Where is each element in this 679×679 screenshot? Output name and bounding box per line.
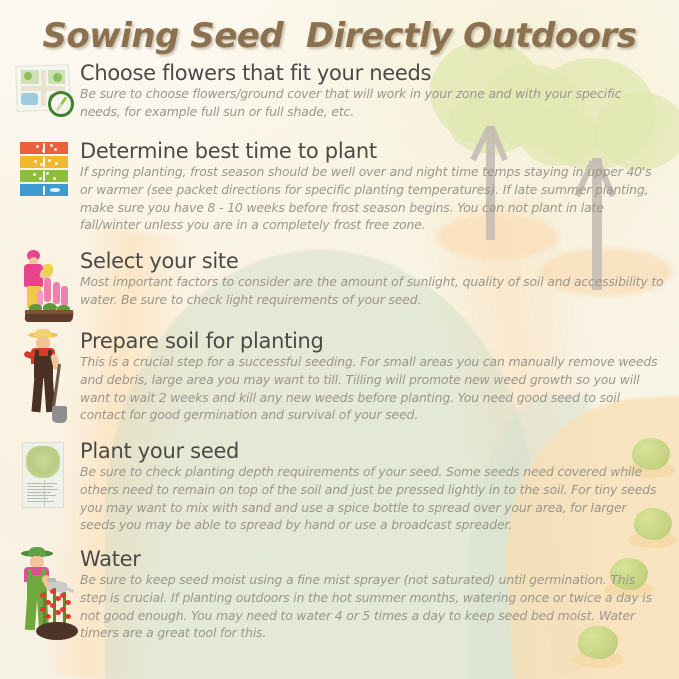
step-icon-slot [8, 330, 80, 430]
step-icon-slot [8, 548, 80, 644]
page-title: Sowing Seed Directly Outdoors [0, 16, 679, 56]
step-text: If spring planting, frost season should … [80, 163, 665, 234]
step-item-select-site: Select your site Most important factors … [0, 250, 679, 330]
gardener-with-flower-planter-icon [13, 250, 75, 328]
step-icon-slot [8, 62, 80, 118]
step-heading: Water [80, 548, 665, 570]
step-body: Plant your seed Be sure to check plantin… [80, 440, 671, 534]
step-icon-slot [8, 440, 80, 514]
step-body: Choose flowers that fit your needs Be su… [80, 62, 671, 121]
step-item-plant-seed: Plant your seed Be sure to check plantin… [0, 440, 679, 548]
step-heading: Prepare soil for planting [80, 330, 665, 352]
step-icon-slot [8, 140, 80, 198]
step-body: Determine best time to plant If spring p… [80, 140, 671, 234]
gardener-watering-can-icon [11, 548, 77, 644]
step-text: Be sure to keep seed moist using a fine … [80, 571, 665, 642]
step-body: Prepare soil for planting This is a cruc… [80, 330, 671, 424]
step-item-choose-flowers: Choose flowers that fit your needs Be su… [0, 62, 679, 140]
step-body: Water Be sure to keep seed moist using a… [80, 548, 671, 642]
step-text: This is a crucial step for a successful … [80, 353, 665, 424]
step-heading: Determine best time to plant [80, 140, 665, 162]
step-heading: Choose flowers that fit your needs [80, 62, 665, 84]
step-item-water: Water Be sure to keep seed moist using a… [0, 548, 679, 648]
step-heading: Select your site [80, 250, 665, 272]
infographic-poster: Sowing Seed Directly Outdoors [0, 0, 679, 679]
step-heading: Plant your seed [80, 440, 665, 462]
step-icon-slot [8, 250, 80, 328]
seed-packet-icon [14, 440, 74, 514]
gardener-with-shovel-icon [14, 330, 74, 430]
step-item-best-time: Determine best time to plant If spring p… [0, 140, 679, 250]
garden-plan-compass-icon [13, 62, 75, 118]
steps-list: Choose flowers that fit your needs Be su… [0, 62, 679, 648]
step-text: Be sure to choose flowers/ground cover t… [80, 85, 665, 120]
four-seasons-icon [14, 140, 74, 198]
step-item-prepare-soil: Prepare soil for planting This is a cruc… [0, 330, 679, 440]
step-text: Be sure to check planting depth requirem… [80, 463, 665, 534]
step-text: Most important factors to consider are t… [80, 273, 665, 308]
step-body: Select your site Most important factors … [80, 250, 671, 309]
